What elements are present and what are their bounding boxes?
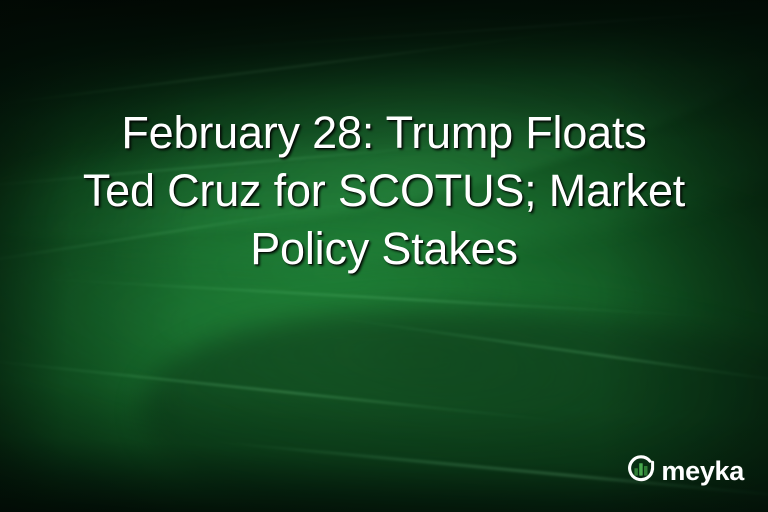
background-streak-7	[325, 316, 768, 393]
meyka-logo: meyka	[626, 454, 744, 489]
slide-headline: February 28: Trump Floats Ted Cruz for S…	[0, 104, 768, 278]
background-streak-5	[0, 355, 590, 426]
background-streak-1	[0, 25, 612, 110]
meyka-wordmark: meyka	[661, 458, 744, 485]
meyka-circle-bar-chart-icon	[626, 454, 656, 489]
background-streak-4	[16, 276, 752, 319]
slide-canvas: February 28: Trump Floats Ted Cruz for S…	[0, 0, 768, 512]
background-streak-2	[154, 4, 768, 54]
